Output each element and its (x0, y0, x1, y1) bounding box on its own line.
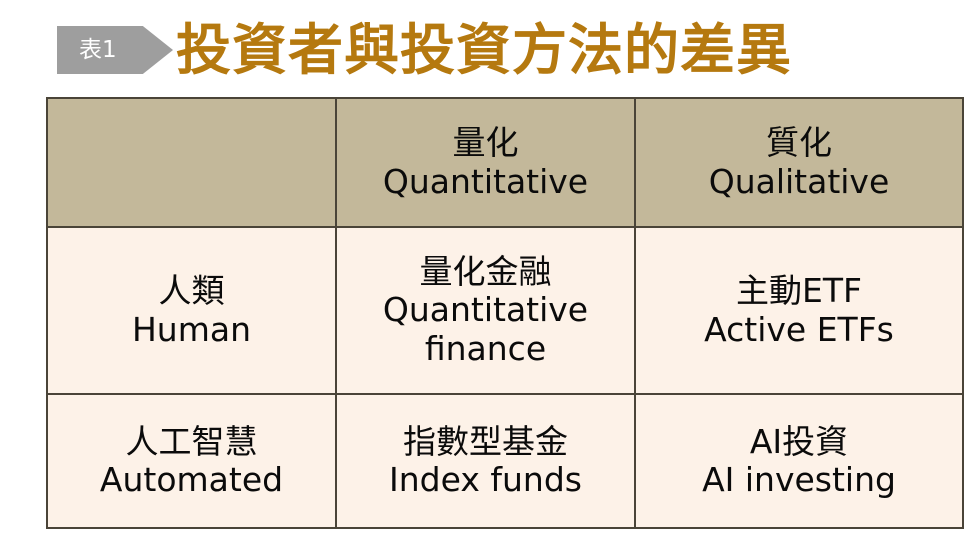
cell-human-qualitative-en: Active ETFs (704, 311, 894, 349)
row-label-automated-en: Automated (100, 461, 283, 499)
row-label-automated: 人工智慧 Automated (47, 394, 336, 528)
header-cell-qualitative: 質化 Qualitative (635, 98, 963, 227)
table-number-label: 表1 (57, 39, 117, 62)
cell-human-quantitative-en: Quantitative finance (337, 291, 634, 368)
table-row-human: 人類 Human 量化金融 Quantitative finance 主動ETF… (47, 227, 963, 394)
header-quantitative-cjk: 量化 (453, 124, 519, 162)
row-label-human-content: 人類 Human (48, 272, 335, 349)
header-qualitative-cjk: 質化 (766, 124, 832, 162)
cell-automated-quantitative: 指數型基金 Index funds (336, 394, 635, 528)
page-title: 投資者與投資方法的差異 (176, 15, 792, 83)
cell-automated-qualitative-content: AI投資 AI investing (636, 423, 962, 500)
row-label-human-cjk: 人類 (159, 272, 225, 310)
cell-human-quantitative-content: 量化金融 Quantitative finance (337, 253, 634, 368)
table-header-row: 量化 Quantitative 質化 Qualitative (47, 98, 963, 227)
empty-corner-cell (48, 99, 335, 226)
cell-human-qualitative: 主動ETF Active ETFs (635, 227, 963, 394)
cell-automated-quantitative-en: Index funds (389, 461, 582, 499)
row-label-human-en: Human (132, 311, 251, 349)
header-cell-quantitative: 量化 Quantitative (336, 98, 635, 227)
table-row-automated: 人工智慧 Automated 指數型基金 Index funds AI投資 AI… (47, 394, 963, 528)
cell-human-qualitative-content: 主動ETF Active ETFs (636, 272, 962, 349)
cell-automated-quantitative-content: 指數型基金 Index funds (337, 423, 634, 500)
header-band: 表1 投資者與投資方法的差異 (0, 0, 976, 95)
cell-automated-qualitative-cjk: AI投資 (750, 423, 848, 461)
header-quantitative-content: 量化 Quantitative (337, 124, 634, 201)
header-cell-empty (47, 98, 336, 227)
row-label-human: 人類 Human (47, 227, 336, 394)
cell-automated-qualitative-en: AI investing (702, 461, 896, 499)
header-qualitative-content: 質化 Qualitative (636, 124, 962, 201)
cell-human-qualitative-cjk: 主動ETF (736, 272, 862, 310)
row-label-automated-content: 人工智慧 Automated (48, 423, 335, 500)
cell-human-quantitative-cjk: 量化金融 (420, 253, 552, 291)
comparison-table: 量化 Quantitative 質化 Qualitative 人類 Human (46, 97, 964, 529)
table-number-badge: 表1 (57, 26, 173, 74)
cell-automated-quantitative-cjk: 指數型基金 (403, 423, 568, 461)
header-quantitative-en: Quantitative (383, 163, 588, 201)
row-label-automated-cjk: 人工智慧 (126, 423, 258, 461)
header-qualitative-en: Qualitative (709, 163, 890, 201)
cell-automated-qualitative: AI投資 AI investing (635, 394, 963, 528)
cell-human-quantitative: 量化金融 Quantitative finance (336, 227, 635, 394)
